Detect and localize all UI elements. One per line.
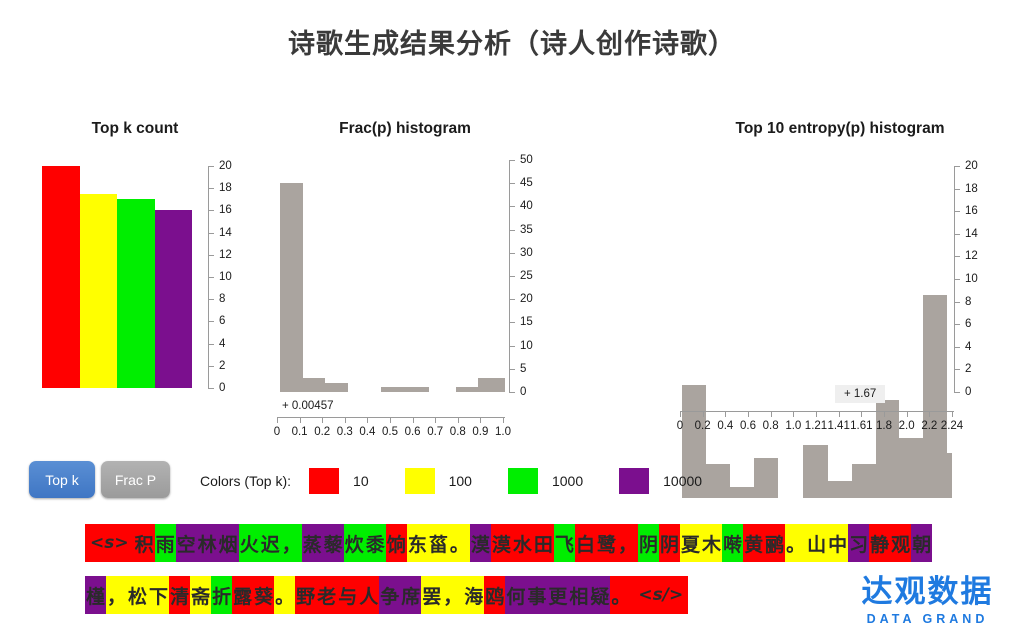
- axis-tick: [208, 388, 214, 389]
- axis-tick: [793, 411, 794, 417]
- poem-token: 啭: [722, 524, 743, 562]
- axis-tick-label: 45: [520, 177, 533, 189]
- x-axis-offset-note-entropy: + 1.67: [835, 385, 885, 403]
- axis-tick-label: 14: [219, 227, 232, 239]
- axis-tick: [509, 299, 515, 300]
- axis-tick: [725, 411, 726, 417]
- poem-token: 葵: [253, 576, 274, 614]
- axis-tick: [703, 411, 704, 417]
- poem-token: 炊: [344, 524, 365, 562]
- poem-token: 菑: [428, 524, 449, 562]
- y-axis-fracp: 05101520253035404550: [509, 160, 549, 392]
- legend-item-label: 10: [353, 473, 369, 489]
- axis-tick-label: 0.8: [763, 420, 779, 432]
- axis-tick: [680, 411, 681, 417]
- poem-token: 下: [148, 576, 169, 614]
- axis-tick: [954, 279, 960, 280]
- axis-tick: [861, 411, 862, 417]
- axis-tick: [509, 322, 515, 323]
- axis-tick-label: 10: [520, 340, 533, 352]
- axis-tick-label: 0.5: [382, 426, 398, 438]
- axis-tick: [954, 369, 960, 370]
- topk-button[interactable]: Top k: [29, 461, 95, 498]
- axis-tick-label: 2.24: [941, 420, 963, 432]
- axis-tick-label: 0.8: [450, 426, 466, 438]
- axis-tick: [954, 392, 960, 393]
- poem-token: 漠: [470, 524, 491, 562]
- poem-token: 清: [169, 576, 190, 614]
- axis-tick: [390, 417, 391, 423]
- axis-tick: [954, 302, 960, 303]
- bar: [117, 199, 155, 388]
- histogram-bar: [947, 453, 952, 498]
- poem-token: ，: [281, 524, 302, 562]
- poem-token: 鹂: [764, 524, 785, 562]
- axis-tick: [208, 188, 214, 189]
- poem-token: 折: [211, 576, 232, 614]
- axis-tick: [954, 211, 960, 212]
- legend-item-label: 1000: [552, 473, 583, 489]
- axis-tick: [907, 411, 908, 417]
- axis-tick-label: 12: [965, 250, 978, 262]
- axis-tick-label: 0.2: [314, 426, 330, 438]
- axis-tick: [208, 255, 214, 256]
- poem-token: 蒸: [302, 524, 323, 562]
- logo-english-text: DATA GRAND: [845, 612, 1010, 626]
- legend-item: 100: [405, 468, 472, 494]
- bar-series-topk: [42, 166, 192, 388]
- axis-tick: [509, 183, 515, 184]
- bar-series-entropy: [682, 272, 952, 498]
- axis-tick-label: 2.0: [899, 420, 915, 432]
- axis-tick-label: 12: [219, 249, 232, 261]
- axis-tick: [816, 411, 817, 417]
- axis-tick: [884, 411, 885, 417]
- poem-token: 烟: [218, 524, 239, 562]
- axis-tick: [839, 411, 840, 417]
- histogram-bar: [303, 378, 326, 392]
- poem-token: 更: [547, 576, 568, 614]
- axis-tick-label: 0: [274, 426, 280, 438]
- histogram-bar: [456, 387, 479, 392]
- axis-tick: [208, 321, 214, 322]
- axis-tick-label: 1.8: [876, 420, 892, 432]
- axis-tick-label: 2.2: [921, 420, 937, 432]
- legend-item-label: 10000: [663, 473, 702, 489]
- axis-tick-label: 0.4: [717, 420, 733, 432]
- poem-token: 老: [316, 576, 337, 614]
- axis-tick: [413, 417, 414, 423]
- histogram-bar: [280, 183, 303, 392]
- axis-tick-label: 14: [965, 228, 978, 240]
- axis-tick-label: 0.9: [472, 426, 488, 438]
- axis-tick: [458, 417, 459, 423]
- axis-tick-label: 0: [219, 382, 225, 394]
- chart-panel-fracp: Frac(p) histogram 05101520253035404550 +…: [260, 120, 550, 440]
- fracp-button[interactable]: Frac P: [101, 461, 170, 498]
- chart-plot-fracp: [280, 160, 505, 392]
- poem-token: 习: [848, 524, 869, 562]
- axis-tick: [509, 346, 515, 347]
- poem-token: 黍: [365, 524, 386, 562]
- bar: [42, 166, 80, 388]
- poem-token: 人: [358, 576, 379, 614]
- axis-tick-label: 8: [965, 296, 971, 308]
- token-strip-line-2: 槿，松下清斋折露葵。野老与人争席罢，海鸥何事更相疑。 <s/>: [85, 576, 688, 614]
- axis-tick-label: 40: [520, 200, 533, 212]
- axis-tick: [954, 347, 960, 348]
- poem-token: 林: [197, 524, 218, 562]
- poem-token: 空: [176, 524, 197, 562]
- poem-token: 与: [337, 576, 358, 614]
- axis-tick-label: 0.4: [359, 426, 375, 438]
- poem-token: 雨: [155, 524, 176, 562]
- brand-logo: 达观数据 DATA GRAND: [845, 576, 1010, 626]
- axis-tick: [929, 411, 930, 417]
- poem-token: 席: [400, 576, 421, 614]
- axis-tick: [509, 160, 515, 161]
- axis-tick: [771, 411, 772, 417]
- poem-token: 静: [869, 524, 890, 562]
- chart-title-entropy: Top 10 entropy(p) histogram: [660, 120, 1020, 138]
- axis-tick-label: 0: [520, 386, 526, 398]
- axis-tick-label: 0: [677, 420, 683, 432]
- axis-tick: [954, 234, 960, 235]
- poem-token: 漠: [491, 524, 512, 562]
- poem-token: 鸥: [484, 576, 505, 614]
- chart-title-fracp: Frac(p) histogram: [260, 120, 550, 138]
- legend-title: Colors (Top k):: [200, 473, 291, 489]
- poem-token: 阴: [659, 524, 680, 562]
- bar-series-fracp: [280, 160, 505, 392]
- axis-tick-label: 1.0: [495, 426, 511, 438]
- axis-tick: [322, 417, 323, 423]
- poem-token: 夏: [680, 524, 701, 562]
- poem-token: <s>: [85, 524, 134, 562]
- poem-token: 。: [785, 524, 806, 562]
- chart-panel-topk: Top k count 02468101214161820: [20, 120, 250, 380]
- axis-tick: [509, 369, 515, 370]
- poem-token: 饷: [386, 524, 407, 562]
- axis-tick: [509, 276, 515, 277]
- chart-plot-topk: [42, 166, 192, 388]
- axis-tick-label: 20: [965, 160, 978, 172]
- poem-token: 藜: [323, 524, 344, 562]
- poem-token: ，: [617, 524, 638, 562]
- histogram-bar: [325, 383, 348, 392]
- axis-tick: [208, 277, 214, 278]
- histogram-bar: [404, 387, 429, 392]
- histogram-bar: [852, 464, 876, 498]
- axis-line: [277, 417, 505, 418]
- axis-tick-label: 5: [520, 363, 526, 375]
- axis-tick: [208, 166, 214, 167]
- poem-token: 槿: [85, 576, 106, 614]
- chart-panel-entropy: Top 10 entropy(p) histogram 024681012141…: [660, 120, 1020, 440]
- poem-token: 罢: [421, 576, 442, 614]
- axis-tick-label: 4: [219, 338, 225, 350]
- axis-tick-label: 35: [520, 224, 533, 236]
- axis-tick-label: 16: [965, 205, 978, 217]
- poem-token: 海: [463, 576, 484, 614]
- axis-tick-label: 6: [219, 315, 225, 327]
- poem-token: 迟: [260, 524, 281, 562]
- poem-token: ，: [442, 576, 463, 614]
- axis-tick: [480, 417, 481, 423]
- poem-token: 火: [239, 524, 260, 562]
- axis-tick-label: 20: [219, 160, 232, 172]
- poem-token: 野: [295, 576, 316, 614]
- axis-tick: [208, 233, 214, 234]
- axis-tick: [509, 392, 515, 393]
- x-axis-entropy: 00.20.40.60.81.01.211.411.611.82.02.22.2…: [680, 411, 954, 437]
- token-strip-line-1: <s>积雨空林烟火迟，蒸藜炊黍饷东菑。漠漠水田飞白鹭，阴阴夏木啭黄鹂。山中习静观…: [85, 524, 932, 562]
- axis-tick: [509, 253, 515, 254]
- chart-plot-entropy: [682, 166, 952, 498]
- axis-tick-label: 0.7: [427, 426, 443, 438]
- axis-tick-label: 0.1: [292, 426, 308, 438]
- poem-token: 争: [379, 576, 400, 614]
- axis-tick: [208, 299, 214, 300]
- axis-tick-label: 30: [520, 247, 533, 259]
- axis-tick: [208, 210, 214, 211]
- poem-token: 中: [827, 524, 848, 562]
- axis-tick-label: 0: [965, 386, 971, 398]
- poem-token: <s/>: [633, 576, 688, 614]
- poem-token: ，: [106, 576, 127, 614]
- axis-tick: [503, 417, 504, 423]
- axis-tick-label: 2: [219, 360, 225, 372]
- axis-tick-label: 50: [520, 154, 533, 166]
- poem-token: 飞: [554, 524, 575, 562]
- axis-tick-label: 20: [520, 293, 533, 305]
- axis-tick-label: 0.2: [695, 420, 711, 432]
- bar: [80, 194, 118, 388]
- axis-tick-label: 16: [219, 204, 232, 216]
- page-title: 诗歌生成结果分析（诗人创作诗歌）: [0, 22, 1024, 61]
- axis-tick-label: 1.61: [850, 420, 872, 432]
- axis-tick: [367, 417, 368, 423]
- histogram-bar: [828, 481, 852, 498]
- axis-tick-label: 10: [219, 271, 232, 283]
- poem-token: 露: [232, 576, 253, 614]
- poem-token: 相: [568, 576, 589, 614]
- axis-tick-label: 6: [965, 318, 971, 330]
- axis-tick: [208, 366, 214, 367]
- x-axis-offset-note-fracp: + 0.00457: [282, 400, 333, 412]
- axis-line: [680, 411, 954, 412]
- poem-token: 何: [505, 576, 526, 614]
- poem-token: 。: [274, 576, 295, 614]
- legend-color-swatch: [309, 468, 339, 494]
- poem-token: 积: [134, 524, 155, 562]
- legend-color-swatch: [405, 468, 435, 494]
- histogram-bar: [381, 387, 404, 392]
- axis-tick: [300, 417, 301, 423]
- legend-item: 1000: [508, 468, 583, 494]
- legend-color-swatch: [508, 468, 538, 494]
- axis-tick: [954, 324, 960, 325]
- poem-token: 斋: [190, 576, 211, 614]
- axis-tick: [954, 256, 960, 257]
- axis-tick: [435, 417, 436, 423]
- poem-token: 田: [533, 524, 554, 562]
- histogram-bar: [478, 378, 505, 392]
- histogram-bar: [803, 445, 828, 498]
- legend-color-swatch: [619, 468, 649, 494]
- histogram-bar: [754, 458, 778, 498]
- axis-tick: [208, 344, 214, 345]
- poem-token: 水: [512, 524, 533, 562]
- axis-tick-label: 15: [520, 316, 533, 328]
- histogram-bar: [899, 438, 923, 498]
- y-axis-entropy: 02468101214161820: [954, 166, 994, 392]
- poem-token: 。: [449, 524, 470, 562]
- poem-token: 山: [806, 524, 827, 562]
- axis-tick: [954, 189, 960, 190]
- poem-token: 木: [701, 524, 722, 562]
- axis-tick-label: 1.21: [805, 420, 827, 432]
- poem-token: 黄: [743, 524, 764, 562]
- axis-tick-label: 0.6: [740, 420, 756, 432]
- legend-items: 10100100010000: [309, 468, 738, 494]
- axis-tick-label: 1.0: [785, 420, 801, 432]
- axis-tick-label: 10: [965, 273, 978, 285]
- poem-token: 松: [127, 576, 148, 614]
- axis-tick-label: 18: [965, 183, 978, 195]
- bar: [155, 210, 193, 388]
- poem-token: 朝: [911, 524, 932, 562]
- logo-chinese-text: 达观数据: [845, 576, 1010, 607]
- axis-tick: [954, 166, 960, 167]
- poem-token: 阴: [638, 524, 659, 562]
- axis-tick-label: 8: [219, 293, 225, 305]
- axis-tick: [748, 411, 749, 417]
- axis-tick: [509, 206, 515, 207]
- axis-tick: [952, 411, 953, 417]
- poem-token: 东: [407, 524, 428, 562]
- axis-tick-label: 0.6: [405, 426, 421, 438]
- legend-item: 10000: [619, 468, 702, 494]
- poem-token: 观: [890, 524, 911, 562]
- poem-token: 鹭: [596, 524, 617, 562]
- y-axis-topk: 02468101214161820: [208, 166, 248, 388]
- legend-item: 10: [309, 468, 369, 494]
- axis-tick-label: 4: [965, 341, 971, 353]
- axis-tick-label: 1.41: [827, 420, 849, 432]
- axis-tick-label: 18: [219, 182, 232, 194]
- poem-token: 疑: [589, 576, 610, 614]
- x-axis-fracp: 00.10.20.30.40.50.60.70.80.91.0: [277, 417, 505, 443]
- chart-title-topk: Top k count: [20, 120, 250, 138]
- axis-tick-label: 0.3: [337, 426, 353, 438]
- poem-token: 。: [610, 576, 631, 614]
- axis-tick: [509, 230, 515, 231]
- axis-tick-label: 25: [520, 270, 533, 282]
- axis-tick: [277, 417, 278, 423]
- poem-token: 事: [526, 576, 547, 614]
- poem-token: 白: [575, 524, 596, 562]
- axis-tick-label: 2: [965, 363, 971, 375]
- axis-tick: [345, 417, 346, 423]
- histogram-bar: [923, 295, 947, 498]
- legend-item-label: 100: [449, 473, 472, 489]
- color-legend: Colors (Top k): 10100100010000: [200, 468, 738, 494]
